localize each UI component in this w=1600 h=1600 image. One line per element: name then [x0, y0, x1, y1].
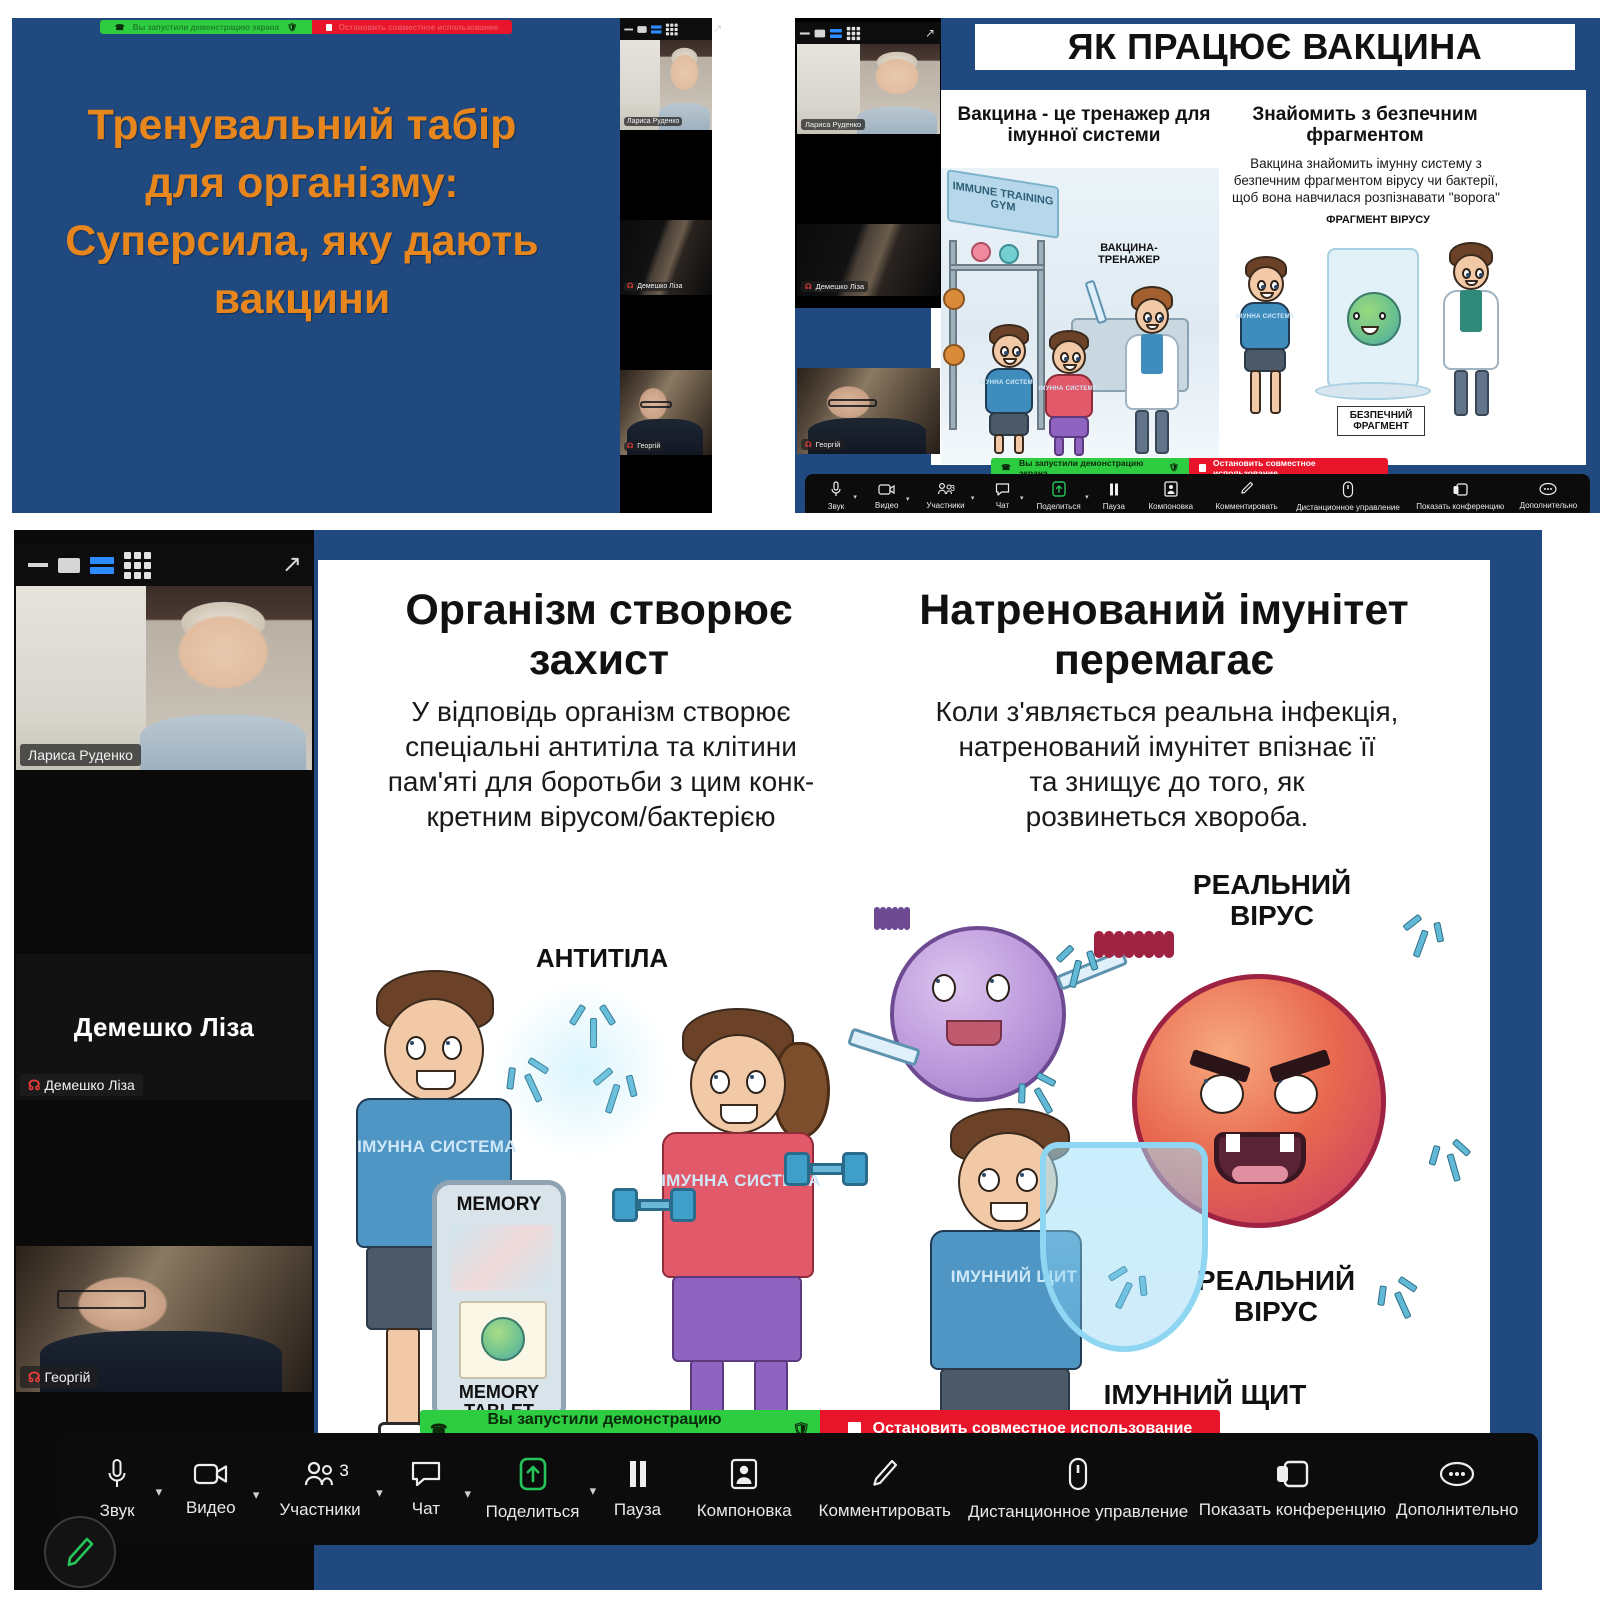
dumbbell-icon: [612, 1188, 698, 1222]
participant-name: Георгій: [637, 443, 660, 450]
share-bar-green[interactable]: ☎ Вы запустили демонстрацию экрана 🛡: [100, 20, 312, 34]
immune-shield-icon: [1040, 1142, 1208, 1352]
toolbar-label: Звук: [828, 502, 844, 511]
phone-icon: ☎: [115, 23, 125, 32]
immune-shield-label: ІМУННИЙ ЩИТ: [1100, 1380, 1310, 1411]
show-meeting-icon: [1274, 1459, 1310, 1489]
fullscreen-icon[interactable]: ↗: [282, 553, 314, 577]
more-dots-icon: [1539, 482, 1557, 496]
gallery-view-icon[interactable]: [666, 23, 678, 35]
toolbar-label: Дополнительно: [1520, 501, 1578, 510]
microphone-icon: [106, 1458, 128, 1490]
gym-girl: ІМУННА СИСТЕМА: [1037, 330, 1099, 456]
share-bar-red[interactable]: Остановить совместное использование: [312, 20, 512, 34]
share-bar-green-label: Вы запустили демонстрацию экрана: [133, 23, 279, 32]
vaccine-col2-heading: Знайомить з безпечним фрагментом: [1230, 104, 1500, 147]
share-screen-icon: [1052, 481, 1066, 497]
participants-icon: [303, 1459, 337, 1489]
real-virus-text: РЕАЛЬНИЙ ВІРУС: [1197, 1265, 1355, 1327]
toolbar-label: Пауза: [614, 1500, 661, 1520]
remote-control-icon: [1067, 1457, 1089, 1491]
toolbar-item-participants[interactable]: 3 ▾ Участники: [913, 482, 979, 510]
chevron-down-icon[interactable]: ▾: [853, 493, 857, 501]
video-tile-liza-right[interactable]: ☊ Демешко Ліза: [797, 224, 940, 296]
layout-icon: [730, 1458, 758, 1490]
toolbar-label: Дистанционное управление: [968, 1502, 1188, 1522]
toolbar-label: Чат: [996, 501, 1009, 510]
defense-col1-body: У відповідь організм створює спеціальні …: [336, 694, 866, 834]
minimize-icon[interactable]: [624, 28, 633, 30]
shirt-label: ІМУННА СИСТЕМА: [1037, 386, 1099, 392]
virus-battle-illustration: РЕАЛЬНИЙ ВІРУС: [844, 860, 1484, 1480]
vaccine-slide-kicker: ЯК ПРАЦЮЄ ВАКЦИНА: [975, 24, 1575, 70]
body-line: розвинеться хвороба.: [862, 799, 1472, 834]
body-line: У відповідь організм створює: [336, 694, 866, 729]
toolbar-item-video[interactable]: ▾ Видео: [162, 1461, 259, 1518]
video-tile-lara-right[interactable]: Лариса Руденко: [797, 44, 940, 134]
pause-icon: [625, 1459, 651, 1489]
toolbar-item-pause[interactable]: Пауза: [1091, 482, 1137, 511]
video-tile-liza-bottom[interactable]: Демешко Ліза ☊ Демешко Ліза: [16, 954, 312, 1100]
mic-muted-icon: ☊: [627, 283, 633, 290]
antibodies-label: АНТИТІЛА: [512, 944, 692, 973]
title-line-4: вакцини: [52, 270, 552, 328]
toolbar-label: Показать конференцию: [1416, 502, 1504, 511]
fragment-illustration: ФРАГМЕНТ ВІРУСУ ІМУННА СИСТЕМА: [1227, 214, 1517, 464]
antibody-girl: ІМУННА СИСТЕМА: [646, 1008, 836, 1460]
toolbar-item-audio[interactable]: ▾ Звук: [72, 1458, 162, 1521]
video-strip-chrome-right: ↗: [795, 22, 941, 44]
toolbar-label: Комментировать: [1215, 502, 1277, 511]
title-slide-text: Тренувальний табір для організму: Суперс…: [52, 96, 552, 328]
chevron-down-icon[interactable]: ▾: [1085, 493, 1089, 501]
body-line: натренований імунітет впізнає її: [862, 729, 1472, 764]
toolbar-item-annotate[interactable]: Комментировать: [1205, 481, 1289, 511]
shield-icon: 🛡: [1169, 463, 1179, 472]
toolbar-item-chat[interactable]: ▾ Чат: [978, 482, 1026, 510]
toolbar-label: Поделиться: [1037, 502, 1081, 511]
participant-name: Демешко Ліза: [637, 283, 682, 290]
mic-muted-icon: ☊: [627, 443, 633, 450]
pen-annotate-icon: [1240, 481, 1254, 497]
speaker-view-icon[interactable]: [651, 25, 662, 33]
gym-doctor: [1117, 286, 1187, 456]
pen-icon: [65, 1536, 95, 1568]
chevron-down-icon[interactable]: ▾: [1020, 494, 1024, 502]
toolbar-item-audio[interactable]: ▾ Звук: [811, 481, 861, 511]
video-tile-georgiy-right[interactable]: ☊ Георгій: [797, 368, 940, 454]
layout-icon: [1164, 481, 1178, 497]
phone-icon: ☎: [1001, 463, 1011, 472]
toolbar-item-remote-control[interactable]: Дистанционное управление: [962, 1457, 1194, 1522]
participant-name: Демешко Ліза: [816, 282, 864, 291]
video-tile-name-badge: ☊ Георгій: [20, 1366, 98, 1388]
body-line: спеціальні антитіла та клітини: [336, 729, 866, 764]
video-tile-name-badge: ☊ Демешко Ліза: [20, 1074, 143, 1096]
participant-name: Демешко Ліза: [44, 1077, 134, 1093]
video-tile-name-badge: Лариса Руденко: [624, 117, 682, 126]
camera-icon: [193, 1461, 229, 1487]
mic-muted-icon: ☊: [28, 1078, 40, 1092]
chevron-down-icon[interactable]: ▾: [971, 494, 975, 502]
defense-col2-body: Коли з'являється реальна інфекція, натре…: [862, 694, 1472, 834]
defense-col2-heading-line2: перемагає: [864, 636, 1464, 684]
mic-muted-icon: ☊: [805, 441, 812, 449]
panel-title-slide: ☎ Вы запустили демонстрацию экрана 🛡 Ост…: [12, 18, 712, 513]
vaccine-trainer-label: ВАКЦИНА-ТРЕНАЖЕР: [1081, 242, 1177, 266]
share-screen-icon: [519, 1457, 547, 1491]
participant-name: Лариса Руденко: [627, 118, 679, 125]
more-dots-icon: [1438, 1459, 1476, 1489]
maximize-icon[interactable]: [58, 558, 80, 573]
speaker-view-icon[interactable]: [830, 28, 842, 37]
toolbar-label: Комментировать: [819, 1501, 951, 1521]
gallery-view-icon[interactable]: [847, 26, 860, 39]
toolbar-item-show-meeting[interactable]: Показать конференцию: [1194, 1459, 1390, 1520]
title-line-2: для організму:: [52, 154, 552, 212]
mic-muted-icon: ☊: [28, 1370, 40, 1384]
toolbar-item-pause[interactable]: Пауза: [594, 1459, 681, 1520]
body-line: Коли з'являється реальна інфекція,: [862, 694, 1472, 729]
vaccine-col1-heading: Вакцина - це тренажер для імунної систем…: [945, 104, 1223, 147]
pause-icon: [1107, 482, 1121, 497]
shirt-label: ІМУННА СИСТЕМА: [342, 1138, 532, 1156]
maximize-icon[interactable]: [815, 29, 826, 37]
video-tile-lara-bottom[interactable]: Лариса Руденко: [16, 586, 312, 770]
panel-vaccine-slide: ЯК ПРАЦЮЄ ВАКЦИНА Вакцина - це тренажер …: [795, 18, 1600, 513]
toolbar-item-more[interactable]: Дополнительно: [1513, 482, 1584, 510]
microphone-icon: [830, 481, 842, 497]
fullscreen-icon[interactable]: ↗: [713, 24, 727, 35]
toolbar-label: Показать конференцию: [1199, 1500, 1386, 1520]
gym-boy: ІМУННА СИСТЕМА: [977, 324, 1039, 454]
participant-name: Георгій: [816, 440, 841, 449]
gallery-view-icon[interactable]: [124, 552, 151, 579]
toolbar-label: Пауза: [1103, 502, 1125, 511]
video-tile-lara-left[interactable]: Лариса Руденко: [620, 40, 712, 130]
toolbar-item-share[interactable]: ▾ Поделиться: [471, 1457, 594, 1522]
toolbar-label: Компоновка: [697, 1501, 792, 1521]
show-meeting-icon: [1452, 482, 1469, 497]
memory-label: MEMORY: [437, 1195, 561, 1216]
body-line: кретним вірусом/бактерією: [336, 799, 866, 834]
title-line-1: Тренувальний табір: [52, 96, 552, 154]
video-tile-name-badge: Лариса Руденко: [20, 744, 141, 766]
toolbar-item-remote-control[interactable]: Дистанционное управление: [1288, 481, 1407, 512]
fragment-doctor: [1435, 242, 1507, 418]
antibody-icon: [1427, 1134, 1476, 1187]
toolbar-label: Видео: [875, 501, 898, 510]
virus-fragment-label: ФРАГМЕНТ ВІРУСУ: [1323, 214, 1433, 226]
chat-bubble-icon: [411, 1460, 441, 1488]
stop-square-icon: [1199, 464, 1206, 472]
toolbar-item-more[interactable]: Дополнительно: [1390, 1459, 1524, 1520]
shirt-label: ІМУННА СИСТЕМА: [1233, 314, 1297, 320]
toolbar-item-layout[interactable]: Компоновка: [1137, 481, 1205, 511]
vaccine-col2-body: Вакцина знайомить імунну систему з безпе…: [1223, 156, 1509, 207]
body-line: пам'яті для боротьби з цим конк-: [336, 764, 866, 799]
mic-muted-icon: ☊: [805, 283, 812, 291]
participants-count-badge: 3: [339, 1461, 348, 1481]
toolbar-label: Компоновка: [1148, 502, 1193, 511]
video-tile-name-badge: ☊ Георгій: [801, 439, 844, 450]
toolbar-item-annotate[interactable]: Комментировать: [808, 1458, 962, 1521]
fullscreen-icon[interactable]: ↗: [925, 27, 941, 39]
memory-tablet: MEMORY MEMORY TABLET: [432, 1180, 566, 1424]
toolbar-label: Видео: [186, 1498, 236, 1518]
participant-name: Лариса Руденко: [805, 120, 861, 129]
video-tile-name-badge: ☊ Демешко Ліза: [801, 281, 868, 292]
real-virus-text: РЕАЛЬНИЙ ВІРУС: [1193, 869, 1351, 931]
remote-control-icon: [1342, 481, 1354, 498]
toolbar-label: Звук: [100, 1501, 135, 1521]
participants-count-badge: 3: [951, 484, 955, 493]
zoom-toolbar-compact: ▾ Звук ▾ Видео 3 ▾ Участники: [805, 474, 1590, 513]
video-tile-georgiy-left[interactable]: ☊ Георгій: [620, 370, 712, 455]
panel-defense-slide: Організм створює захист Натренований іму…: [14, 530, 1542, 1590]
toolbar-label: Участники: [926, 501, 964, 510]
shield-icon: 🛡: [287, 23, 297, 32]
video-tile-name-badge: ☊ Георгій: [624, 442, 663, 451]
fragment-boy: ІМУННА СИСТЕМА: [1233, 256, 1297, 416]
chat-bubble-icon: [995, 482, 1010, 496]
participant-name: Лариса Руденко: [28, 747, 133, 763]
toolbar-item-layout[interactable]: Компоновка: [681, 1458, 808, 1521]
screenshot-root: ☎ Вы запустили демонстрацию экрана 🛡 Ост…: [0, 0, 1600, 1600]
toolbar-item-video[interactable]: ▾ Видео: [861, 483, 913, 510]
video-strip-chrome-bottom: ↗: [14, 544, 314, 586]
toolbar-label: Чат: [412, 1499, 440, 1519]
share-bar-red-label: Остановить совместное использование: [339, 23, 499, 32]
speaker-view-icon[interactable]: [90, 557, 114, 574]
video-strip-chrome-left: ↗: [620, 18, 712, 40]
title-line-3: Суперсила, яку дають: [52, 212, 552, 270]
pen-annotate-icon: [871, 1458, 899, 1490]
defense-col1-heading-line1: Організм створює: [344, 586, 854, 634]
toolbar-item-participants[interactable]: 3 ▾ Участники: [259, 1459, 380, 1520]
defense-col1-heading-line2: захист: [344, 636, 854, 684]
video-tile-liza-left[interactable]: ☊ Демешко Ліза: [620, 220, 712, 295]
participant-name: Георгій: [44, 1369, 90, 1385]
gym-illustration: IMMUNE TRAINING GYM ІМУННА СИСТЕМА: [941, 168, 1219, 464]
shirt-label: ІМУННА СИСТЕМА: [977, 380, 1039, 386]
maximize-icon[interactable]: [637, 26, 646, 33]
toolbar-label: Поделиться: [486, 1502, 580, 1522]
toolbar-label: Дистанционное управление: [1296, 503, 1400, 512]
camera-icon: [878, 483, 896, 496]
chevron-down-icon[interactable]: ▾: [906, 495, 910, 503]
zoom-toolbar-main: ▾ Звук ▾ Видео 3 ▾ Участники ▾ Чат: [58, 1433, 1538, 1545]
toolbar-label: Дополнительно: [1396, 1500, 1518, 1520]
toolbar-item-show-meeting[interactable]: Показать конференцию: [1408, 482, 1513, 511]
immune-shield-text: ІМУННИЙ ЩИТ: [1104, 1379, 1307, 1410]
body-line: та знищує до того, як: [862, 764, 1472, 799]
floating-annotate-button[interactable]: [44, 1516, 116, 1588]
toolbar-label: Участники: [279, 1500, 360, 1520]
toolbar-item-share[interactable]: ▾ Поделиться: [1027, 481, 1091, 511]
share-bar-top-left: ☎ Вы запустили демонстрацию экрана 🛡 Ост…: [100, 20, 512, 34]
minimize-icon[interactable]: [28, 563, 48, 567]
toolbar-item-chat[interactable]: ▾ Чат: [381, 1460, 471, 1519]
video-tile-name-badge: Лариса Руденко: [801, 119, 865, 130]
real-virus-label-top: РЕАЛЬНИЙ ВІРУС: [1162, 870, 1382, 932]
defense-col2-heading-line1: Натренований імунітет: [864, 586, 1464, 634]
stop-square-icon: [326, 24, 332, 31]
video-tile-name-badge: ☊ Демешко Ліза: [624, 282, 685, 291]
minimize-icon[interactable]: [800, 32, 810, 34]
video-tile-georgiy-bottom[interactable]: ☊ Георгій: [16, 1246, 312, 1392]
safe-fragment-label: БЕЗПЕЧНИЙ ФРАГМЕНТ: [1337, 406, 1425, 436]
